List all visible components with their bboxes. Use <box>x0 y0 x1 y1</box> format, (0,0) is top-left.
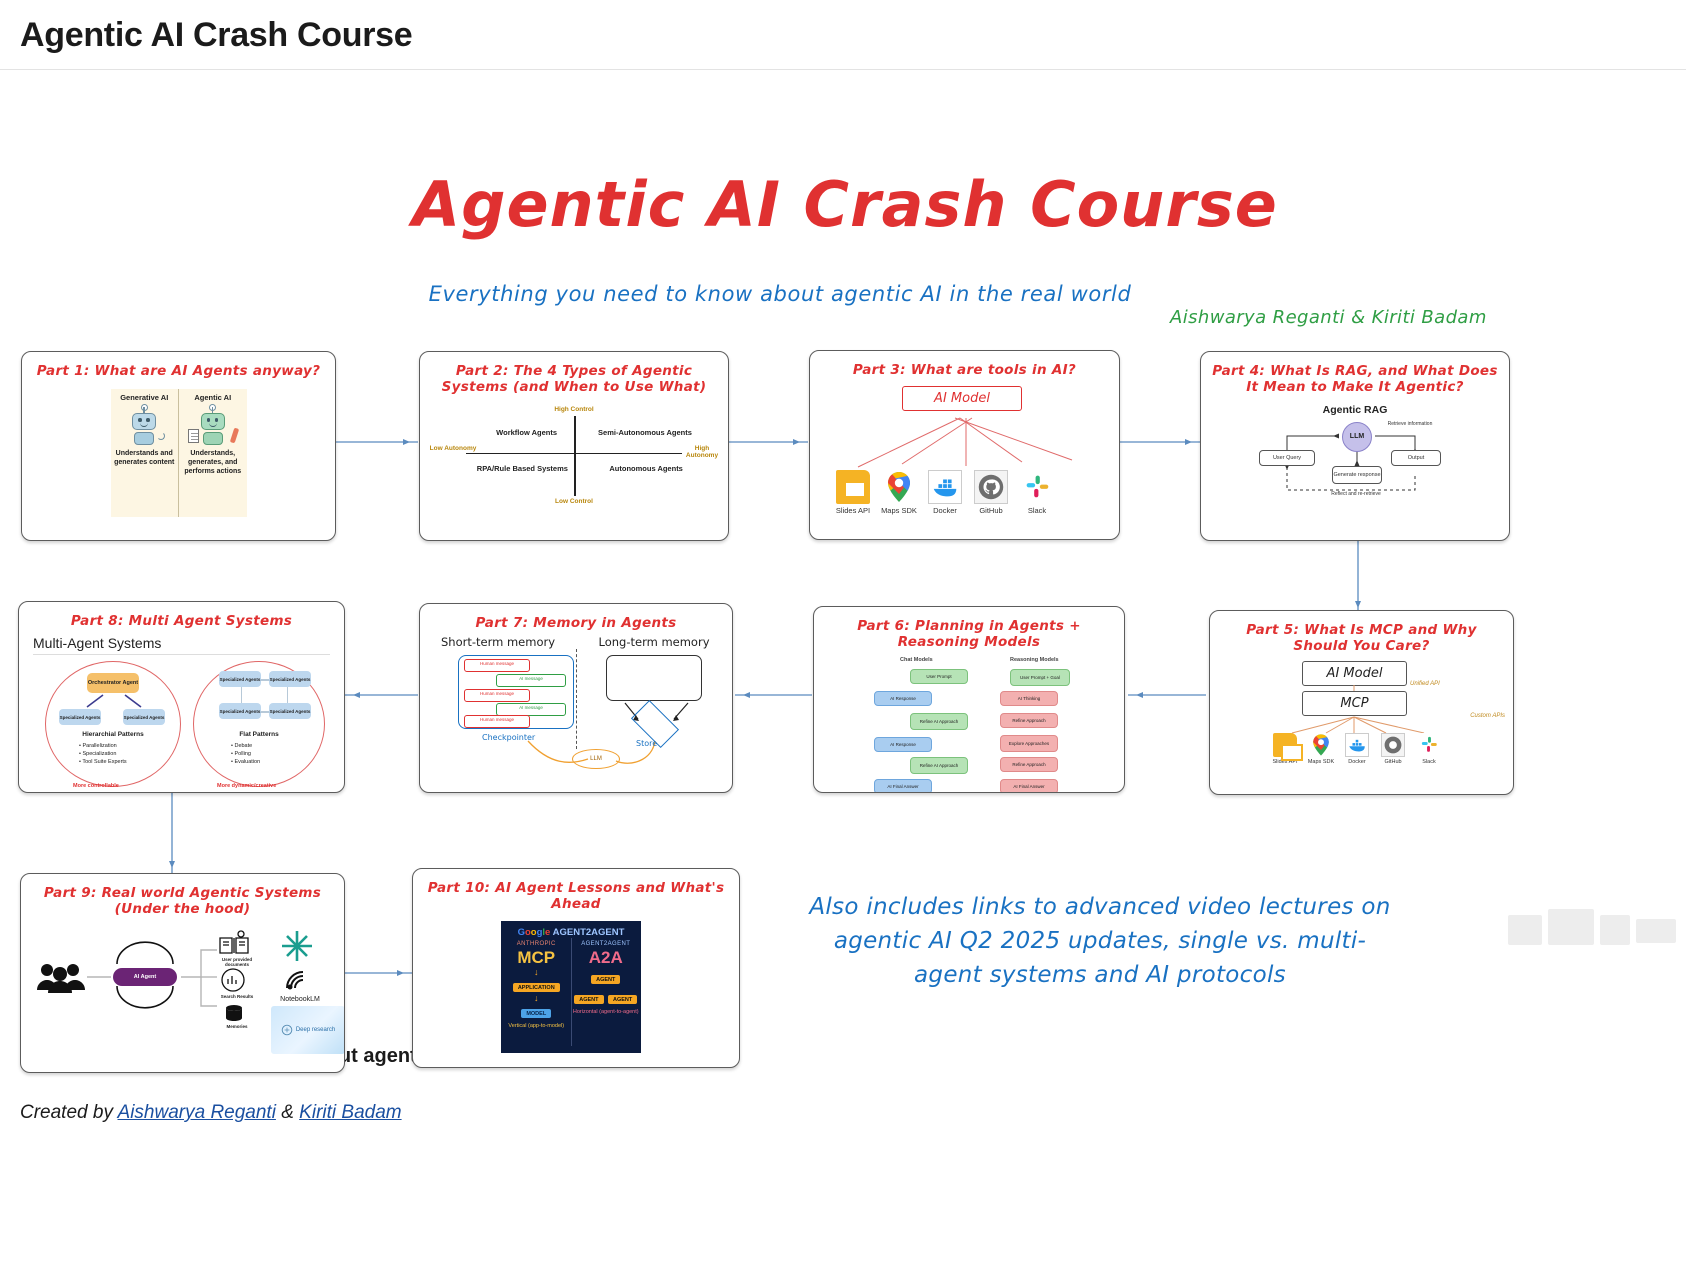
robot-blue-icon <box>127 407 161 447</box>
mcp-connector-arrows <box>1210 659 1514 789</box>
agent-pill: AGENT <box>608 995 637 1004</box>
axis-label-high-control: High Control <box>539 406 609 413</box>
bullet-item: • Debate <box>231 743 260 751</box>
agent2agent-slide: Google AGENT2AGENT ANTHROPIC MCP ↓ APPLI… <box>501 921 641 1053</box>
flat-footnote: More dynamic/creative <box>217 783 276 789</box>
flat-bullets: • Debate • Polling • Evaluation <box>231 743 260 767</box>
a2a-column: AGENT2AGENT A2A AGENT AGENT AGENT Horizo… <box>572 938 641 1046</box>
generative-ai-caption: Understands and generates content <box>113 450 177 468</box>
card-part-2-title: Part 2: The 4 Types of Agentic Systems (… <box>420 352 728 400</box>
divider <box>33 654 330 655</box>
generative-vs-agentic-panel: Generative AI Understands and generates … <box>111 389 247 517</box>
tool-github[interactable]: GitHub <box>972 470 1010 515</box>
advanced-video-note: Also includes links to advanced video le… <box>800 890 1400 992</box>
card-part-5-title: Part 5: What Is MCP and Why Should You C… <box>1210 611 1513 659</box>
card-part-3-title: Part 3: What are tools in AI? <box>810 351 1119 382</box>
vertical-label: Vertical (app-to-model) <box>502 1023 571 1030</box>
memory-headings: Short-term memory Long-term memory <box>420 635 732 649</box>
board-subtitle: Everything you need to know about agenti… <box>350 282 1210 306</box>
plan-step: User Prompt <box>910 669 968 684</box>
book-document-icon <box>217 930 251 956</box>
source-label-memories: Memories <box>211 1024 263 1029</box>
docker-icon <box>928 470 962 504</box>
quadrant-workflow-agents: Workflow Agents <box>482 428 572 437</box>
agent-pill: AGENT <box>574 995 603 1004</box>
card-part-5-body: AI Model Unified API MCP Custom APIs Sli… <box>1210 659 1513 789</box>
card-part-6-title: Part 6: Planning in Agents + Reasoning M… <box>814 607 1124 655</box>
tool-label: Slack <box>1018 506 1056 515</box>
google-slides-icon <box>1273 733 1297 757</box>
card-part-3-body: AI Model Slides API <box>810 382 1119 537</box>
card-part-7-body: Short-term memory Long-term memory Human… <box>420 635 732 773</box>
axis-label-low-control: Low Control <box>539 498 609 505</box>
github-icon <box>1381 733 1405 757</box>
github-icon <box>974 470 1008 504</box>
card-part-9-title: Part 9: Real world Agentic Systems (Unde… <box>21 874 344 922</box>
plan-step: Refine Approach <box>1000 757 1058 772</box>
multi-agent-diagram: Orchestrator Agent Specialized Agents Sp… <box>19 659 344 793</box>
store-label: Store <box>636 739 657 748</box>
author-link-kiriti[interactable]: Kiriti Badam <box>299 1102 401 1123</box>
tool-docker[interactable]: Docker <box>926 470 964 515</box>
document-icon <box>188 429 199 443</box>
card-part-7[interactable]: Part 7: Memory in Agents Short-term memo… <box>419 603 733 793</box>
tool-slides-api[interactable]: Slides API <box>1270 733 1300 765</box>
hierarchical-pattern-label: Hierarchial Patterns <box>65 731 161 738</box>
card-part-10[interactable]: Part 10: AI Agent Lessons and What's Ahe… <box>412 868 740 1068</box>
card-part-7-title: Part 7: Memory in Agents <box>420 604 732 635</box>
card-part-6[interactable]: Part 6: Planning in Agents + Reasoning M… <box>813 606 1125 793</box>
slide-columns: ANTHROPIC MCP ↓ APPLICATION ↓ MODEL Vert… <box>502 938 640 1046</box>
deep-research-tile: Deep research <box>271 1006 345 1054</box>
slide-header-text: AGENT2AGENT <box>553 927 625 938</box>
plan-step: Refine Approach <box>1000 713 1058 728</box>
docker-icon <box>1345 733 1369 757</box>
tool-label: Slides API <box>834 506 872 515</box>
specialized-agent-node: Specialized Agents <box>269 703 311 719</box>
ampersand: & <box>276 1102 299 1123</box>
source-label-search: Search Results <box>211 994 263 999</box>
tool-label: Docker <box>1342 759 1372 765</box>
watermark <box>1508 909 1678 953</box>
agent-pill-row: AGENT AGENT <box>572 988 641 1006</box>
chat-models-heading: Chat Models <box>900 657 933 663</box>
specialized-agent-node: Specialized Agents <box>269 671 311 687</box>
board-title: Agentic AI Crash Course <box>345 168 1345 241</box>
generative-ai-column: Generative AI Understands and generates … <box>111 389 180 517</box>
tool-label: Maps SDK <box>880 506 918 515</box>
specialized-agent-node: Specialized Agents <box>219 703 261 719</box>
application-pill: APPLICATION <box>513 983 560 992</box>
quadrant-autonomous-agents: Autonomous Agents <box>599 464 694 473</box>
card-part-1-body: Generative AI Understands and generates … <box>22 389 335 517</box>
agentic-ai-heading: Agentic AI <box>181 393 245 402</box>
rag-node-llm: LLM <box>1342 422 1372 452</box>
quadrant-semi-autonomous-agents: Semi-Autonomous Agents <box>592 428 697 437</box>
generative-ai-heading: Generative AI <box>113 393 177 402</box>
bullet-item: • Parallelization <box>79 743 127 751</box>
mcp-column: ANTHROPIC MCP ↓ APPLICATION ↓ MODEL Vert… <box>502 938 572 1046</box>
card-part-5[interactable]: Part 5: What Is MCP and Why Should You C… <box>1209 610 1514 795</box>
bullet-item: • Tool Suite Experts <box>79 759 127 767</box>
plan-step: AI Response <box>874 737 932 752</box>
plan-step: Explore Approaches <box>1000 735 1058 752</box>
down-arrow-icon: ↓ <box>502 994 571 1002</box>
tool-slides-api[interactable]: Slides API <box>834 470 872 515</box>
card-part-4-body: Agentic RAG User Query LLM Generate resp… <box>1201 404 1509 512</box>
tool-slack[interactable]: Slack <box>1018 470 1056 515</box>
slack-icon <box>1020 470 1054 504</box>
card-part-4-title: Part 4: What Is RAG, and What Does It Me… <box>1201 352 1509 400</box>
card-part-1-title: Part 1: What are AI Agents anyway? <box>22 352 335 383</box>
agent2agent-label: AGENT2AGENT <box>572 941 641 947</box>
card-part-10-body: Google AGENT2AGENT ANTHROPIC MCP ↓ APPLI… <box>413 917 739 1062</box>
tool-label: GitHub <box>1378 759 1408 765</box>
database-icon <box>223 1004 245 1024</box>
rag-node-generate-response: Generate response <box>1332 466 1382 484</box>
bullet-item: • Specialization <box>79 751 127 759</box>
flat-pattern-label: Flat Patterns <box>211 731 307 738</box>
plan-step: AI Response <box>874 691 932 706</box>
google-wordmark: G <box>518 927 525 938</box>
notebooklm-star-icon <box>279 928 315 964</box>
long-term-memory-heading: Long-term memory <box>576 635 732 649</box>
card-part-6-body: Chat Models Reasoning Models User Prompt… <box>814 655 1124 793</box>
card-part-8-title: Part 8: Multi Agent Systems <box>19 602 344 633</box>
openai-logo-icon <box>281 1024 293 1036</box>
agentic-ai-column: Agentic AI Understands, generates, and p… <box>179 389 247 517</box>
agentic-quadrant-chart: High Control Low Control Low Autonomy Hi… <box>420 400 728 508</box>
short-term-memory-heading: Short-term memory <box>420 635 576 649</box>
agentic-rag-heading: Agentic RAG <box>1201 404 1509 416</box>
horizontal-label: Horizontal (agent-to-agent) <box>572 1009 641 1016</box>
a2a-title: A2A <box>572 948 641 968</box>
axis-label-high-autonomy: High Autonomy <box>680 445 724 460</box>
mcp-title: MCP <box>502 948 571 968</box>
tools-row: Slides API Maps SDK <box>1270 733 1444 765</box>
hierarchical-bullets: • Parallelization • Specialization • Too… <box>79 743 127 767</box>
rag-label-retrieve: Retrieve information <box>1385 422 1435 428</box>
real-world-diagram: AI Agent <box>21 922 344 1057</box>
model-pill: MODEL <box>521 1009 551 1018</box>
tool-label: Maps SDK <box>1306 759 1336 765</box>
quadrant-rpa-rule-based: RPA/Rule Based Systems <box>472 464 572 473</box>
anthropic-label: ANTHROPIC <box>502 941 571 947</box>
google-slides-icon <box>836 470 870 504</box>
rag-node-user-query: User Query <box>1259 450 1315 466</box>
tool-label: Slack <box>1414 759 1444 765</box>
tool-maps-sdk[interactable]: Maps SDK <box>880 470 918 515</box>
chart-analytics-icon <box>219 966 247 994</box>
wrench-icon <box>230 428 239 444</box>
footer-credit: Created by Aishwarya Reganti & Kiriti Ba… <box>20 1102 1666 1124</box>
page-header: Agentic AI Crash Course <box>0 0 1686 70</box>
down-arrow-icon: ↓ <box>502 968 571 976</box>
author-link-aishwarya[interactable]: Aishwarya Reganti <box>118 1102 276 1123</box>
tools-row: Slides API Maps SDK <box>834 470 1056 515</box>
board-authors: Aishwarya Reganti & Kiriti Badam <box>1170 307 1487 328</box>
plan-step: Refine AI Approach <box>910 713 968 730</box>
tool-maps-sdk[interactable]: Maps SDK <box>1306 733 1336 765</box>
card-part-10-title: Part 10: AI Agent Lessons and What's Ahe… <box>413 869 739 917</box>
agent-pill: AGENT <box>591 975 620 984</box>
plan-step: Refine AI Approach <box>910 757 968 774</box>
created-by-label: Created by <box>20 1102 118 1123</box>
card-part-8[interactable]: Part 8: Multi Agent Systems Multi-Agent … <box>18 601 345 793</box>
slack-icon <box>1417 733 1441 757</box>
axis-label-low-autonomy: Low Autonomy <box>426 445 480 452</box>
page-title: Agentic AI Crash Course <box>20 16 1666 55</box>
bullet-item: • Evaluation <box>231 759 260 767</box>
tool-docker[interactable]: Docker <box>1342 733 1372 765</box>
tool-label: Docker <box>926 506 964 515</box>
planning-diagram: Chat Models Reasoning Models User Prompt… <box>814 655 1124 793</box>
plan-step: User Prompt + Goal <box>1010 669 1070 686</box>
notebooklm-label: NotebookLM <box>271 996 329 1004</box>
multi-agent-systems-heading: Multi-Agent Systems <box>19 633 344 654</box>
tool-github[interactable]: GitHub <box>1378 733 1408 765</box>
plan-step: AI Final Answer <box>1000 779 1058 793</box>
google-maps-icon <box>882 470 916 504</box>
card-part-8-body: Multi-Agent Systems Orchestrator Agent S… <box>19 633 344 793</box>
rag-node-output: Output <box>1391 450 1441 466</box>
card-part-1[interactable]: Part 1: What are AI Agents anyway? Gener… <box>21 351 336 541</box>
notebooklm-logo-icon <box>283 968 309 994</box>
card-part-9[interactable]: Part 9: Real world Agentic Systems (Unde… <box>20 873 345 1073</box>
slide-header: Google AGENT2AGENT <box>502 922 640 938</box>
rag-label-reflect: Reflect and re-retrieve <box>1311 492 1401 498</box>
robot-green-icon <box>196 407 230 447</box>
card-part-2[interactable]: Part 2: The 4 Types of Agentic Systems (… <box>419 351 729 541</box>
plan-step: AI Thinking <box>1000 691 1058 706</box>
google-maps-icon <box>1309 733 1333 757</box>
card-part-3[interactable]: Part 3: What are tools in AI? AI Model S… <box>809 350 1120 540</box>
tool-label: GitHub <box>972 506 1010 515</box>
memory-diagram: Human message AI message Human message A… <box>420 649 732 773</box>
hierarchical-footnote: More controllable <box>73 783 119 789</box>
tool-slack[interactable]: Slack <box>1414 733 1444 765</box>
card-part-2-body: High Control Low Control Low Autonomy Hi… <box>420 400 728 508</box>
card-part-9-body: AI Agent <box>21 922 344 1057</box>
agentic-rag-diagram: User Query LLM Generate response Output … <box>1201 416 1509 512</box>
bullet-item: • Polling <box>231 751 260 759</box>
deep-research-label: Deep research <box>296 1027 335 1033</box>
agentic-ai-caption: Understands, generates, and performs act… <box>181 450 245 476</box>
specialized-agent-node: Specialized Agents <box>219 671 261 687</box>
plan-step: AI Final Answer <box>874 779 932 793</box>
whiteboard-canvas: Agentic AI Crash Course Everything you n… <box>0 70 1686 1015</box>
card-part-4[interactable]: Part 4: What Is RAG, and What Does It Me… <box>1200 351 1510 541</box>
reasoning-models-heading: Reasoning Models <box>1010 657 1059 663</box>
